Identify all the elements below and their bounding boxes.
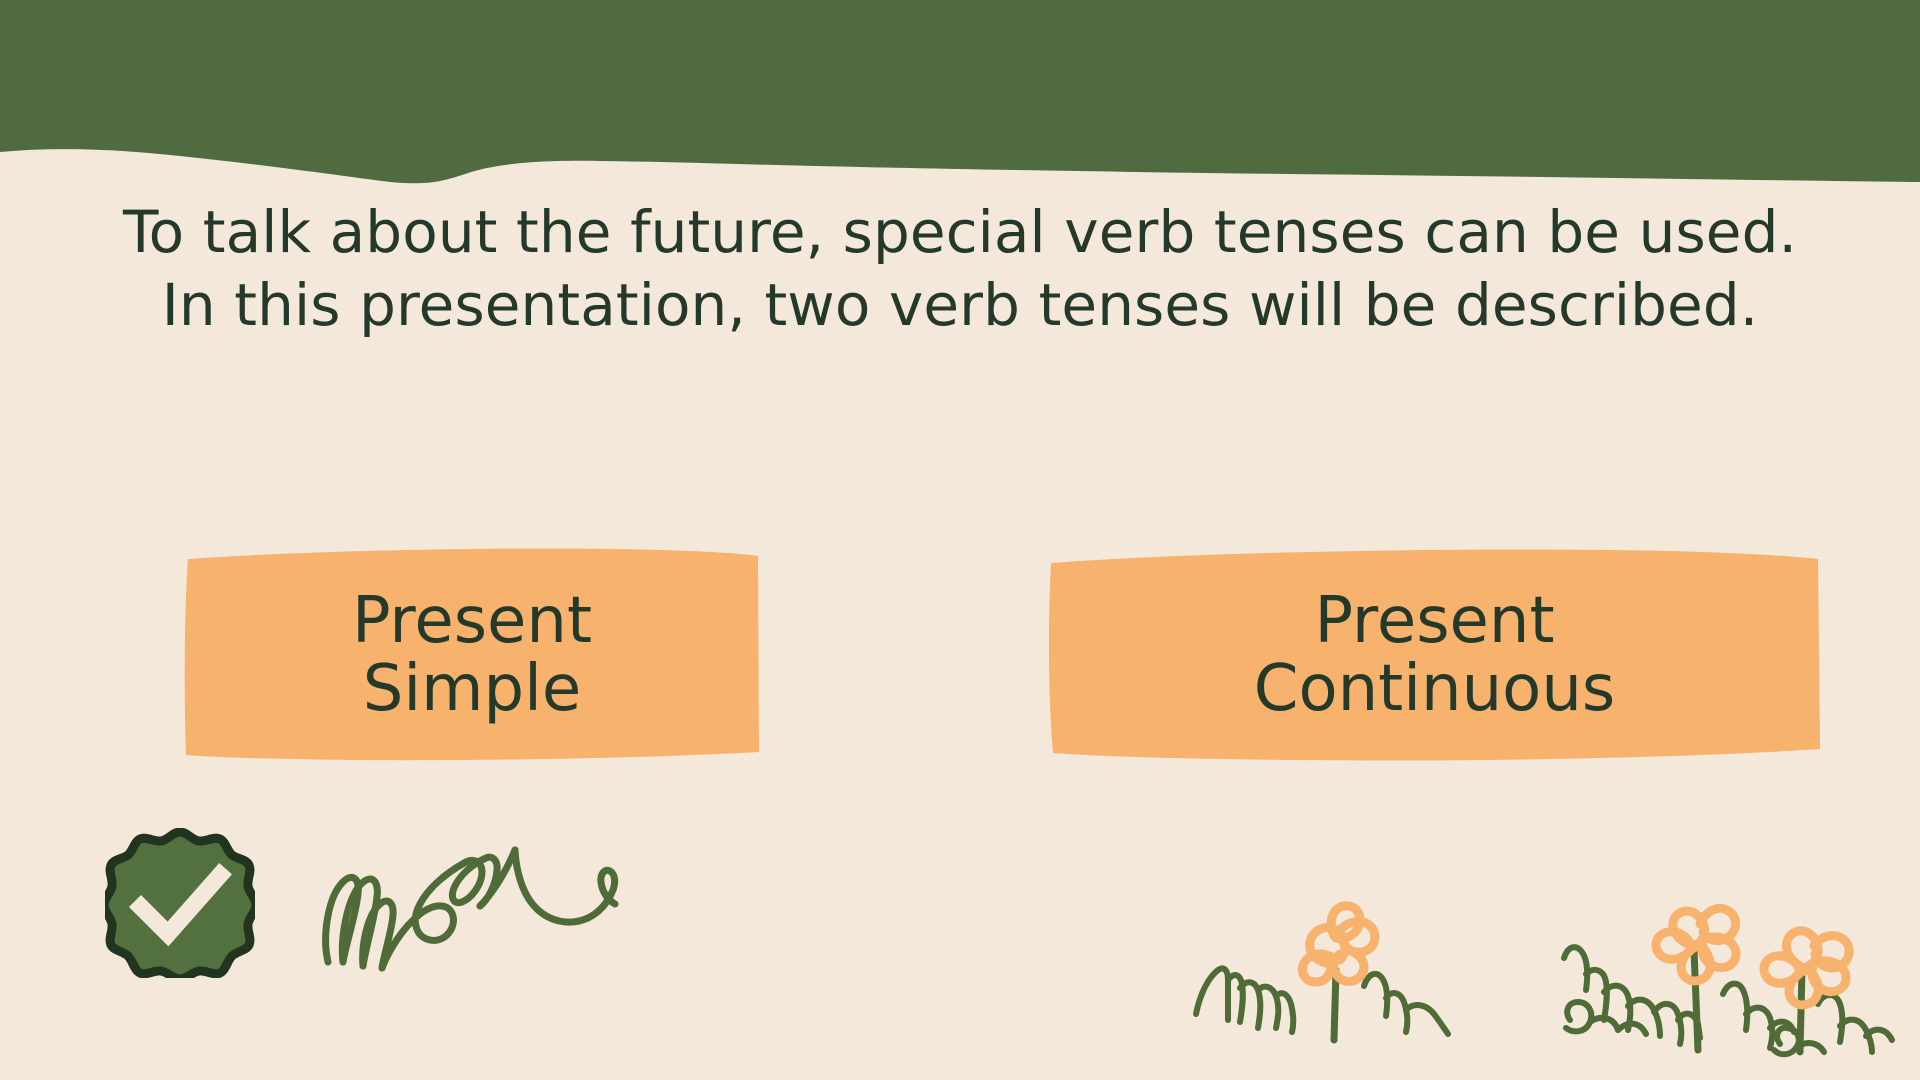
- squiggle-doodle-icon: [316, 836, 720, 972]
- flower-cluster-right-icon: [1548, 888, 1920, 1078]
- card-label-present-continuous: Present Continuous: [1047, 588, 1822, 724]
- card-label-present-simple: Present Simple: [183, 588, 761, 724]
- check-badge-icon: [105, 828, 255, 978]
- card-present-continuous[interactable]: Present Continuous: [1047, 546, 1822, 766]
- header-wave-band: [0, 0, 1920, 210]
- card-present-simple[interactable]: Present Simple: [183, 546, 761, 766]
- intro-paragraph: To talk about the future, special verb t…: [115, 196, 1805, 341]
- flower-cluster-left-icon: [1182, 898, 1502, 1068]
- slide-canvas: To talk about the future, special verb t…: [0, 0, 1920, 1080]
